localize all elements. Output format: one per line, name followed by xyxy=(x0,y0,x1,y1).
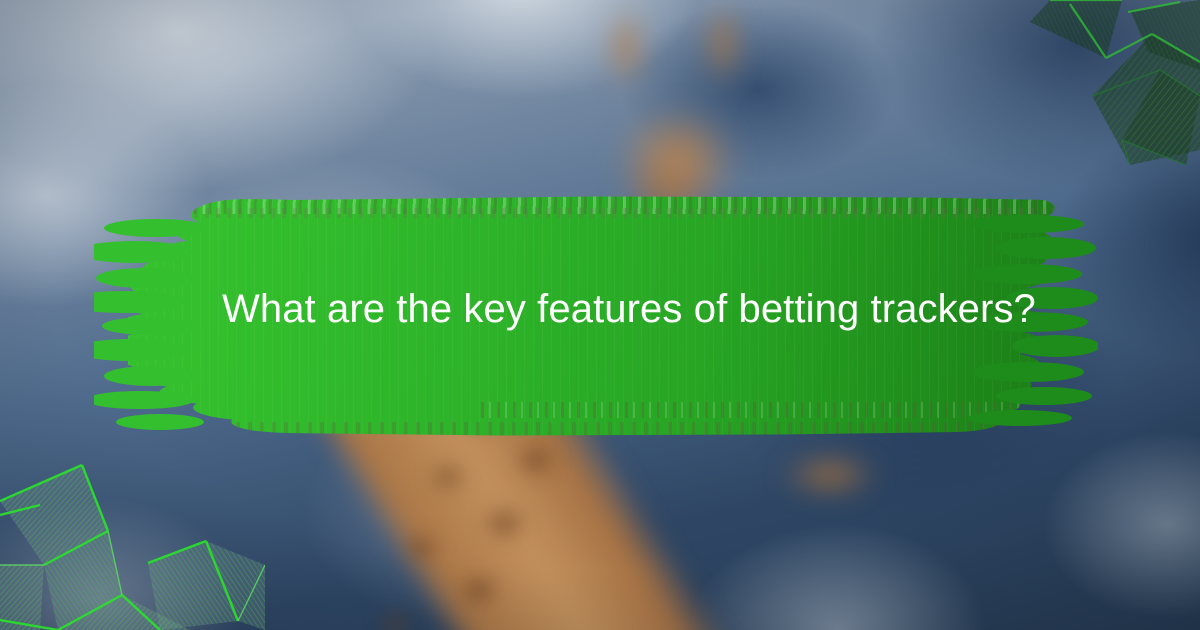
share-banner-canvas: What are the key features of betting tra… xyxy=(0,0,1200,630)
page-title: What are the key features of betting tra… xyxy=(222,286,1012,332)
brush-left-lobes xyxy=(94,190,214,440)
title-banner: What are the key features of betting tra… xyxy=(128,190,1058,440)
